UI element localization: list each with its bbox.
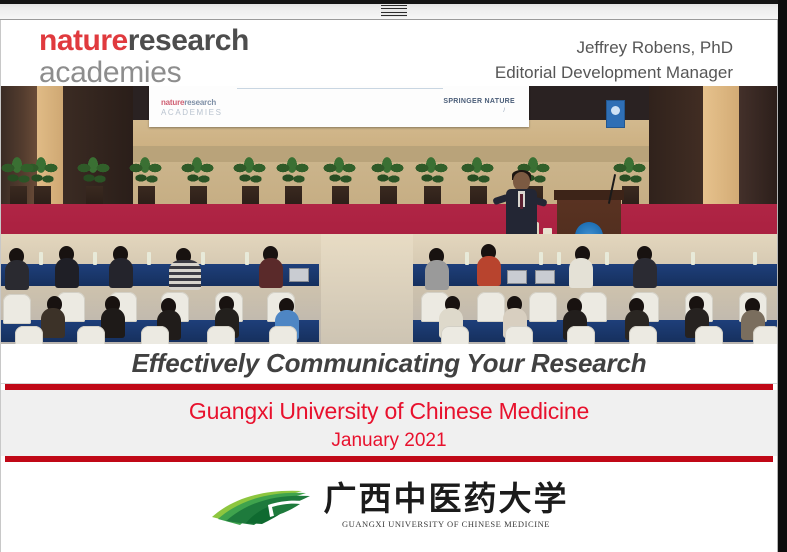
projection-rule: [237, 88, 443, 89]
projection-screen: natureresearch ACADEMIES SPRINGER NATURE…: [149, 86, 529, 127]
subtitle-organization: Guangxi University of Chinese Medicine: [1, 396, 777, 427]
conference-photo: natureresearch ACADEMIES SPRINGER NATURE…: [1, 86, 777, 344]
brand-line-one: natureresearch: [39, 26, 249, 56]
subtitle-date: January 2021: [1, 427, 777, 455]
university-name-english: GUANGXI UNIVERSITY OF CHINESE MEDICINE: [324, 520, 569, 529]
projected-publisher-sub: /: [503, 108, 505, 114]
presenter-role: Editorial Development Manager: [495, 61, 733, 86]
slide-viewer: natureresearch academies Jeffrey Robens,…: [0, 0, 787, 552]
projected-brand-nature: nature: [161, 98, 184, 107]
green-leaf-swoosh-icon: [210, 483, 314, 529]
drag-handle-icon[interactable]: [381, 4, 407, 17]
window-right-edge: [778, 0, 787, 552]
presenter-block: Jeffrey Robens, PhD Editorial Developmen…: [495, 36, 733, 85]
projected-brand-sub: ACADEMIES: [161, 108, 223, 117]
projected-publisher: SPRINGER NATURE: [443, 98, 515, 105]
slide-title-band: Effectively Communicating Your Research: [1, 344, 777, 383]
presenter-name: Jeffrey Robens, PhD: [495, 36, 733, 61]
nature-research-academies-logo: natureresearch academies: [39, 26, 249, 88]
brand-word-academies: academies: [39, 58, 249, 88]
wall-sign-icon: [606, 100, 625, 128]
slide-title: Effectively Communicating Your Research: [132, 348, 647, 379]
slide-header: natureresearch academies Jeffrey Robens,…: [1, 20, 777, 86]
subtitle-panel: Guangxi University of Chinese Medicine J…: [1, 390, 777, 456]
projected-brand: natureresearch: [161, 98, 216, 107]
presentation-slide: natureresearch academies Jeffrey Robens,…: [0, 20, 778, 552]
university-name-chinese: 广西中医药大学: [324, 482, 569, 515]
window-top-chrome: [0, 0, 787, 20]
slide-footer: 广西中医药大学 GUANGXI UNIVERSITY OF CHINESE ME…: [1, 462, 777, 549]
university-logo: 广西中医药大学 GUANGXI UNIVERSITY OF CHINESE ME…: [210, 482, 569, 529]
projected-brand-research: research: [184, 98, 216, 107]
brand-word-research: research: [128, 24, 249, 57]
audience-area: [1, 234, 777, 344]
brand-word-nature: nature: [39, 24, 128, 57]
university-name-block: 广西中医药大学 GUANGXI UNIVERSITY OF CHINESE ME…: [324, 482, 569, 529]
